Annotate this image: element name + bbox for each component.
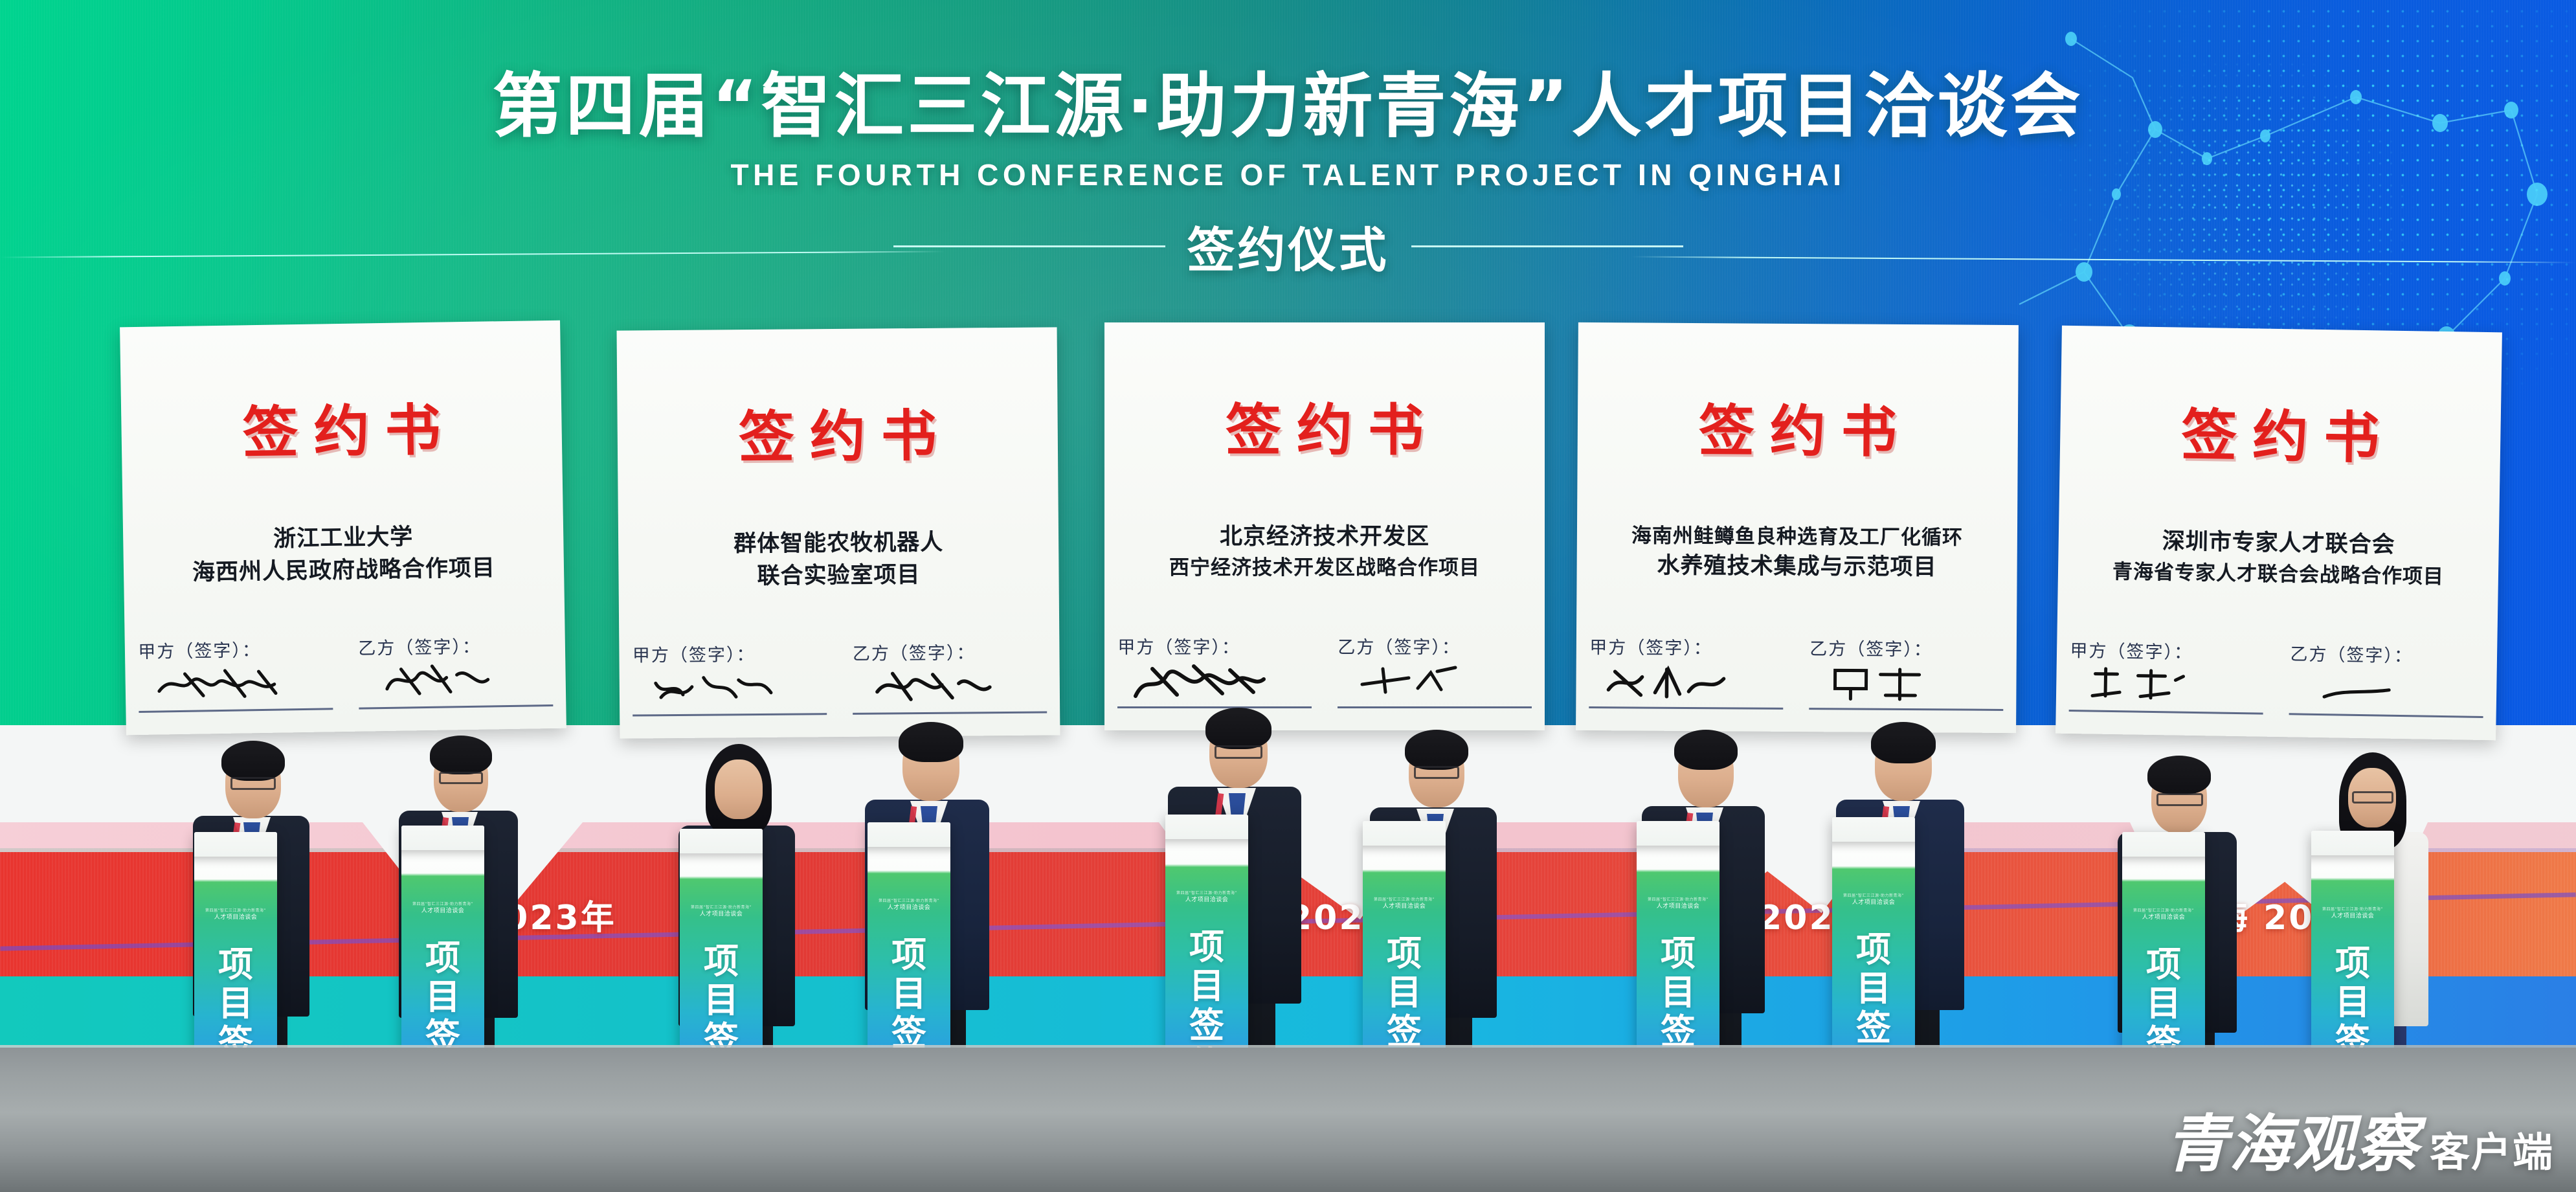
party-b-signature: [1338, 658, 1531, 706]
hair: [430, 736, 492, 774]
podium-header: 第四届“智汇三江源·助力新青海” 人才项目洽谈会: [1165, 891, 1248, 904]
podium-char: 目: [1363, 973, 1446, 1012]
podium-top-panel: [401, 826, 484, 850]
podium-top-panel: [680, 829, 763, 853]
hair: [899, 722, 963, 762]
board-project-name: 群体智能农牧机器人 联合实验室项目: [618, 526, 1059, 594]
subtitle-row: 签约仪式: [0, 212, 2576, 281]
podium-header-tiny: 第四届“智汇三江源·助力新青海”: [2311, 907, 2394, 912]
podium-top-panel: [2311, 831, 2394, 855]
hair: [1674, 730, 1738, 770]
board-heading: 签约书: [2060, 388, 2502, 476]
hair: [221, 741, 285, 781]
podium-header-main: 人才项目洽谈会: [1185, 897, 1229, 903]
podium-header-main: 人才项目洽谈会: [1852, 899, 1896, 906]
podium-header-tiny: 第四届“智汇三江源·助力新青海”: [2122, 908, 2205, 914]
board-heading: 签约书: [1104, 385, 1545, 466]
project-line: 青海省专家人才联合会战略合作项目: [2070, 557, 2487, 592]
podium-header: 第四届“智汇三江源·助力新青海” 人才项目洽谈会: [2122, 908, 2205, 921]
hair: [2147, 756, 2211, 794]
conference-title-cn: 第四届“智汇三江源·助力新青海”人才项目洽谈会: [0, 70, 2576, 143]
party-a-signature: [633, 665, 827, 714]
party-b-cell: 乙方（签字）：: [358, 631, 553, 710]
podium-char: 目: [2311, 983, 2394, 1022]
podium-char: 签: [1165, 1006, 1248, 1045]
project-line: 北京经济技术开发区: [1116, 521, 1533, 554]
podium-char: 项: [401, 939, 484, 978]
podium-char: 目: [868, 974, 950, 1013]
party-b-label: 乙方（签字）：: [1338, 633, 1531, 658]
broadcaster-watermark: 青海观察 客户端: [2166, 1113, 2554, 1175]
podium-header: 第四届“智汇三江源·助力新青海” 人才项目洽谈会: [1832, 894, 1915, 906]
podium-char: 项: [194, 945, 277, 984]
podium-char: 项: [1363, 934, 1446, 973]
signature-row: 甲方（签字）： 乙方（签字）：: [1576, 633, 2017, 711]
podium-char: 目: [2122, 984, 2205, 1023]
signing-board: 签约书 群体智能农牧机器人 联合实验室项目 甲方（签字）： 乙方（签字）：: [617, 327, 1060, 738]
signature-row: 甲方（签字）： 乙方（签字）：: [125, 631, 566, 714]
podium-header-main: 人才项目洽谈会: [421, 908, 465, 914]
podium-top-panel: [2122, 832, 2205, 857]
party-b-cell: 乙方（签字）：: [1809, 635, 2004, 711]
party-a-signature: [1589, 658, 1784, 708]
podium-top-panel: [868, 822, 950, 847]
party-b-signature: [2289, 665, 2483, 716]
ceremony-subtitle: 签约仪式: [1187, 212, 1389, 281]
podium-header-tiny: 第四届“智汇三江源·助力新青海”: [1165, 891, 1248, 896]
podium-top-panel: [1165, 815, 1248, 839]
party-b-signature: [359, 657, 553, 708]
party-a-signature: [139, 660, 333, 711]
signing-board: 签约书 浙江工业大学 海西州人民政府战略合作项目 甲方（签字）： 乙方（签字）：: [120, 320, 566, 736]
podium-header-tiny: 第四届“智汇三江源·助力新青海”: [680, 905, 763, 910]
podium-header: 第四届“智汇三江源·助力新青海” 人才项目洽谈会: [401, 902, 484, 915]
podium-header-tiny: 第四届“智汇三江源·助力新青海”: [1363, 897, 1446, 903]
podium-header-main: 人才项目洽谈会: [1657, 903, 1700, 910]
podium-char: 签: [1832, 1009, 1915, 1048]
podium-top-panel: [1637, 821, 1719, 846]
board-project-name: 海南州鲑鳟鱼良种选育及工厂化循环 水养殖技术集成与示范项目: [1576, 521, 2017, 585]
podium-char: 项: [680, 942, 763, 981]
podium-header-tiny: 第四届“智汇三江源·助力新青海”: [1832, 894, 1915, 899]
project-line: 水养殖技术集成与示范项目: [1588, 550, 2005, 585]
title-block: 第四届“智汇三江源·助力新青海”人才项目洽谈会 THE FOURTH CONFE…: [0, 70, 2576, 281]
party-b-cell: 乙方（签字）：: [2289, 640, 2484, 718]
podium-header: 第四届“智汇三江源·助力新青海” 人才项目洽谈会: [680, 905, 763, 918]
podium-header-main: 人才项目洽谈会: [1383, 903, 1426, 910]
podium-header: 第四届“智汇三江源·助力新青海” 人才项目洽谈会: [2311, 907, 2394, 920]
board-heading: 签约书: [1578, 385, 2019, 468]
signing-board: 签约书 海南州鲑鳟鱼良种选育及工厂化循环 水养殖技术集成与示范项目 甲方（签字）…: [1576, 322, 2019, 733]
subtitle-rule-left: [893, 245, 1165, 247]
podium-header-main: 人才项目洽谈会: [214, 914, 258, 921]
podium-char: 项: [1832, 930, 1915, 969]
podium-header-main: 人才项目洽谈会: [888, 905, 931, 911]
podium-header: 第四届“智汇三江源·助力新青海” 人才项目洽谈会: [1637, 897, 1719, 910]
podium-char: 项: [1637, 934, 1719, 973]
glasses: [1215, 745, 1262, 759]
hair: [1205, 708, 1271, 749]
project-line: 西宁经济技术开发区战略合作项目: [1116, 554, 1533, 582]
podium-header: 第四届“智汇三江源·助力新青海” 人才项目洽谈会: [868, 899, 950, 912]
signing-board: 签约书 深圳市专家人才联合会 青海省专家人才联合会战略合作项目 甲方（签字）： …: [2055, 326, 2502, 741]
glasses: [1414, 766, 1459, 779]
project-line: 联合实验室项目: [630, 558, 1047, 594]
podium-char: 目: [1832, 969, 1915, 1008]
podium-char: 目: [194, 984, 277, 1023]
party-a-cell: 甲方（签字）：: [1589, 633, 1784, 710]
event-photo-scene: 第四届“智汇三江源·助力新青海”人才项目洽谈会 THE FOURTH CONFE…: [0, 0, 2576, 1192]
podium-top-panel: [1832, 817, 1915, 842]
glasses: [2156, 793, 2203, 806]
watermark-suffix: 客户端: [2430, 1132, 2554, 1175]
signing-board: 签约书 北京经济技术开发区 西宁经济技术开发区战略合作项目 甲方（签字）： 乙方…: [1104, 322, 1545, 730]
podium-top-panel: [194, 832, 277, 857]
podium-header-main: 人才项目洽谈会: [700, 911, 743, 917]
podium-header-tiny: 第四届“智汇三江源·助力新青海”: [194, 908, 277, 914]
party-b-cell: 乙方（签字）：: [1338, 633, 1531, 708]
party-a-cell: 甲方（签字）：: [633, 640, 827, 716]
hair: [1405, 730, 1468, 770]
podium-header-main: 人才项目洽谈会: [2331, 913, 2375, 919]
podium-char: 项: [2122, 945, 2205, 984]
project-line: 海西州人民政府战略合作项目: [135, 552, 553, 590]
party-b-signature: [1809, 660, 2004, 709]
podium-top-panel: [1363, 821, 1446, 846]
podium-header-tiny: 第四届“智汇三江源·助力新青海”: [1637, 897, 1719, 903]
board-project-name: 浙江工业大学 海西州人民政府战略合作项目: [123, 519, 564, 590]
face: [715, 759, 763, 819]
project-line: 群体智能农牧机器人: [630, 526, 1047, 561]
party-a-cell: 甲方（签字）：: [2069, 636, 2264, 715]
subtitle-rule-right: [1411, 245, 1683, 247]
board-project-name: 深圳市专家人才联合会 青海省专家人才联合会战略合作项目: [2058, 524, 2499, 592]
board-project-name: 北京经济技术开发区 西宁经济技术开发区战略合作项目: [1104, 521, 1545, 582]
watermark-brand: 青海观察: [2166, 1113, 2419, 1175]
conference-title-en: THE FOURTH CONFERENCE OF TALENT PROJECT …: [0, 157, 2576, 192]
podium-header-tiny: 第四届“智汇三江源·助力新青海”: [868, 899, 950, 904]
podium-char: 目: [401, 978, 484, 1017]
party-a-label: 甲方（签字）：: [1117, 633, 1311, 658]
party-a-cell: 甲方（签字）：: [138, 635, 333, 713]
signature-row: 甲方（签字）： 乙方（签字）：: [2056, 636, 2498, 719]
podium-char: 项: [868, 936, 950, 974]
hair: [1871, 722, 1936, 763]
podium-header: 第四届“智汇三江源·助力新青海” 人才项目洽谈会: [1363, 897, 1446, 910]
party-b-signature-line: [1338, 706, 1531, 708]
podium-char: 目: [680, 981, 763, 1020]
podium-char: 项: [1165, 928, 1248, 967]
podium-char: 项: [2311, 944, 2394, 983]
glasses: [439, 772, 483, 784]
board-heading: 签约书: [121, 383, 563, 471]
podium-header-main: 人才项目洽谈会: [2142, 914, 2186, 921]
project-line: 海南州鲑鳟鱼良种选育及工厂化循环: [1589, 521, 2006, 552]
board-heading: 签约书: [617, 389, 1058, 473]
glasses: [230, 777, 276, 790]
party-a-signature: [2069, 662, 2263, 713]
podium-char: 目: [1637, 973, 1719, 1012]
podium-header-tiny: 第四届“智汇三江源·助力新青海”: [401, 902, 484, 907]
glasses: [2352, 791, 2393, 804]
podium-char: 目: [1165, 967, 1248, 1006]
podium-header: 第四届“智汇三江源·助力新青海” 人才项目洽谈会: [194, 908, 277, 921]
